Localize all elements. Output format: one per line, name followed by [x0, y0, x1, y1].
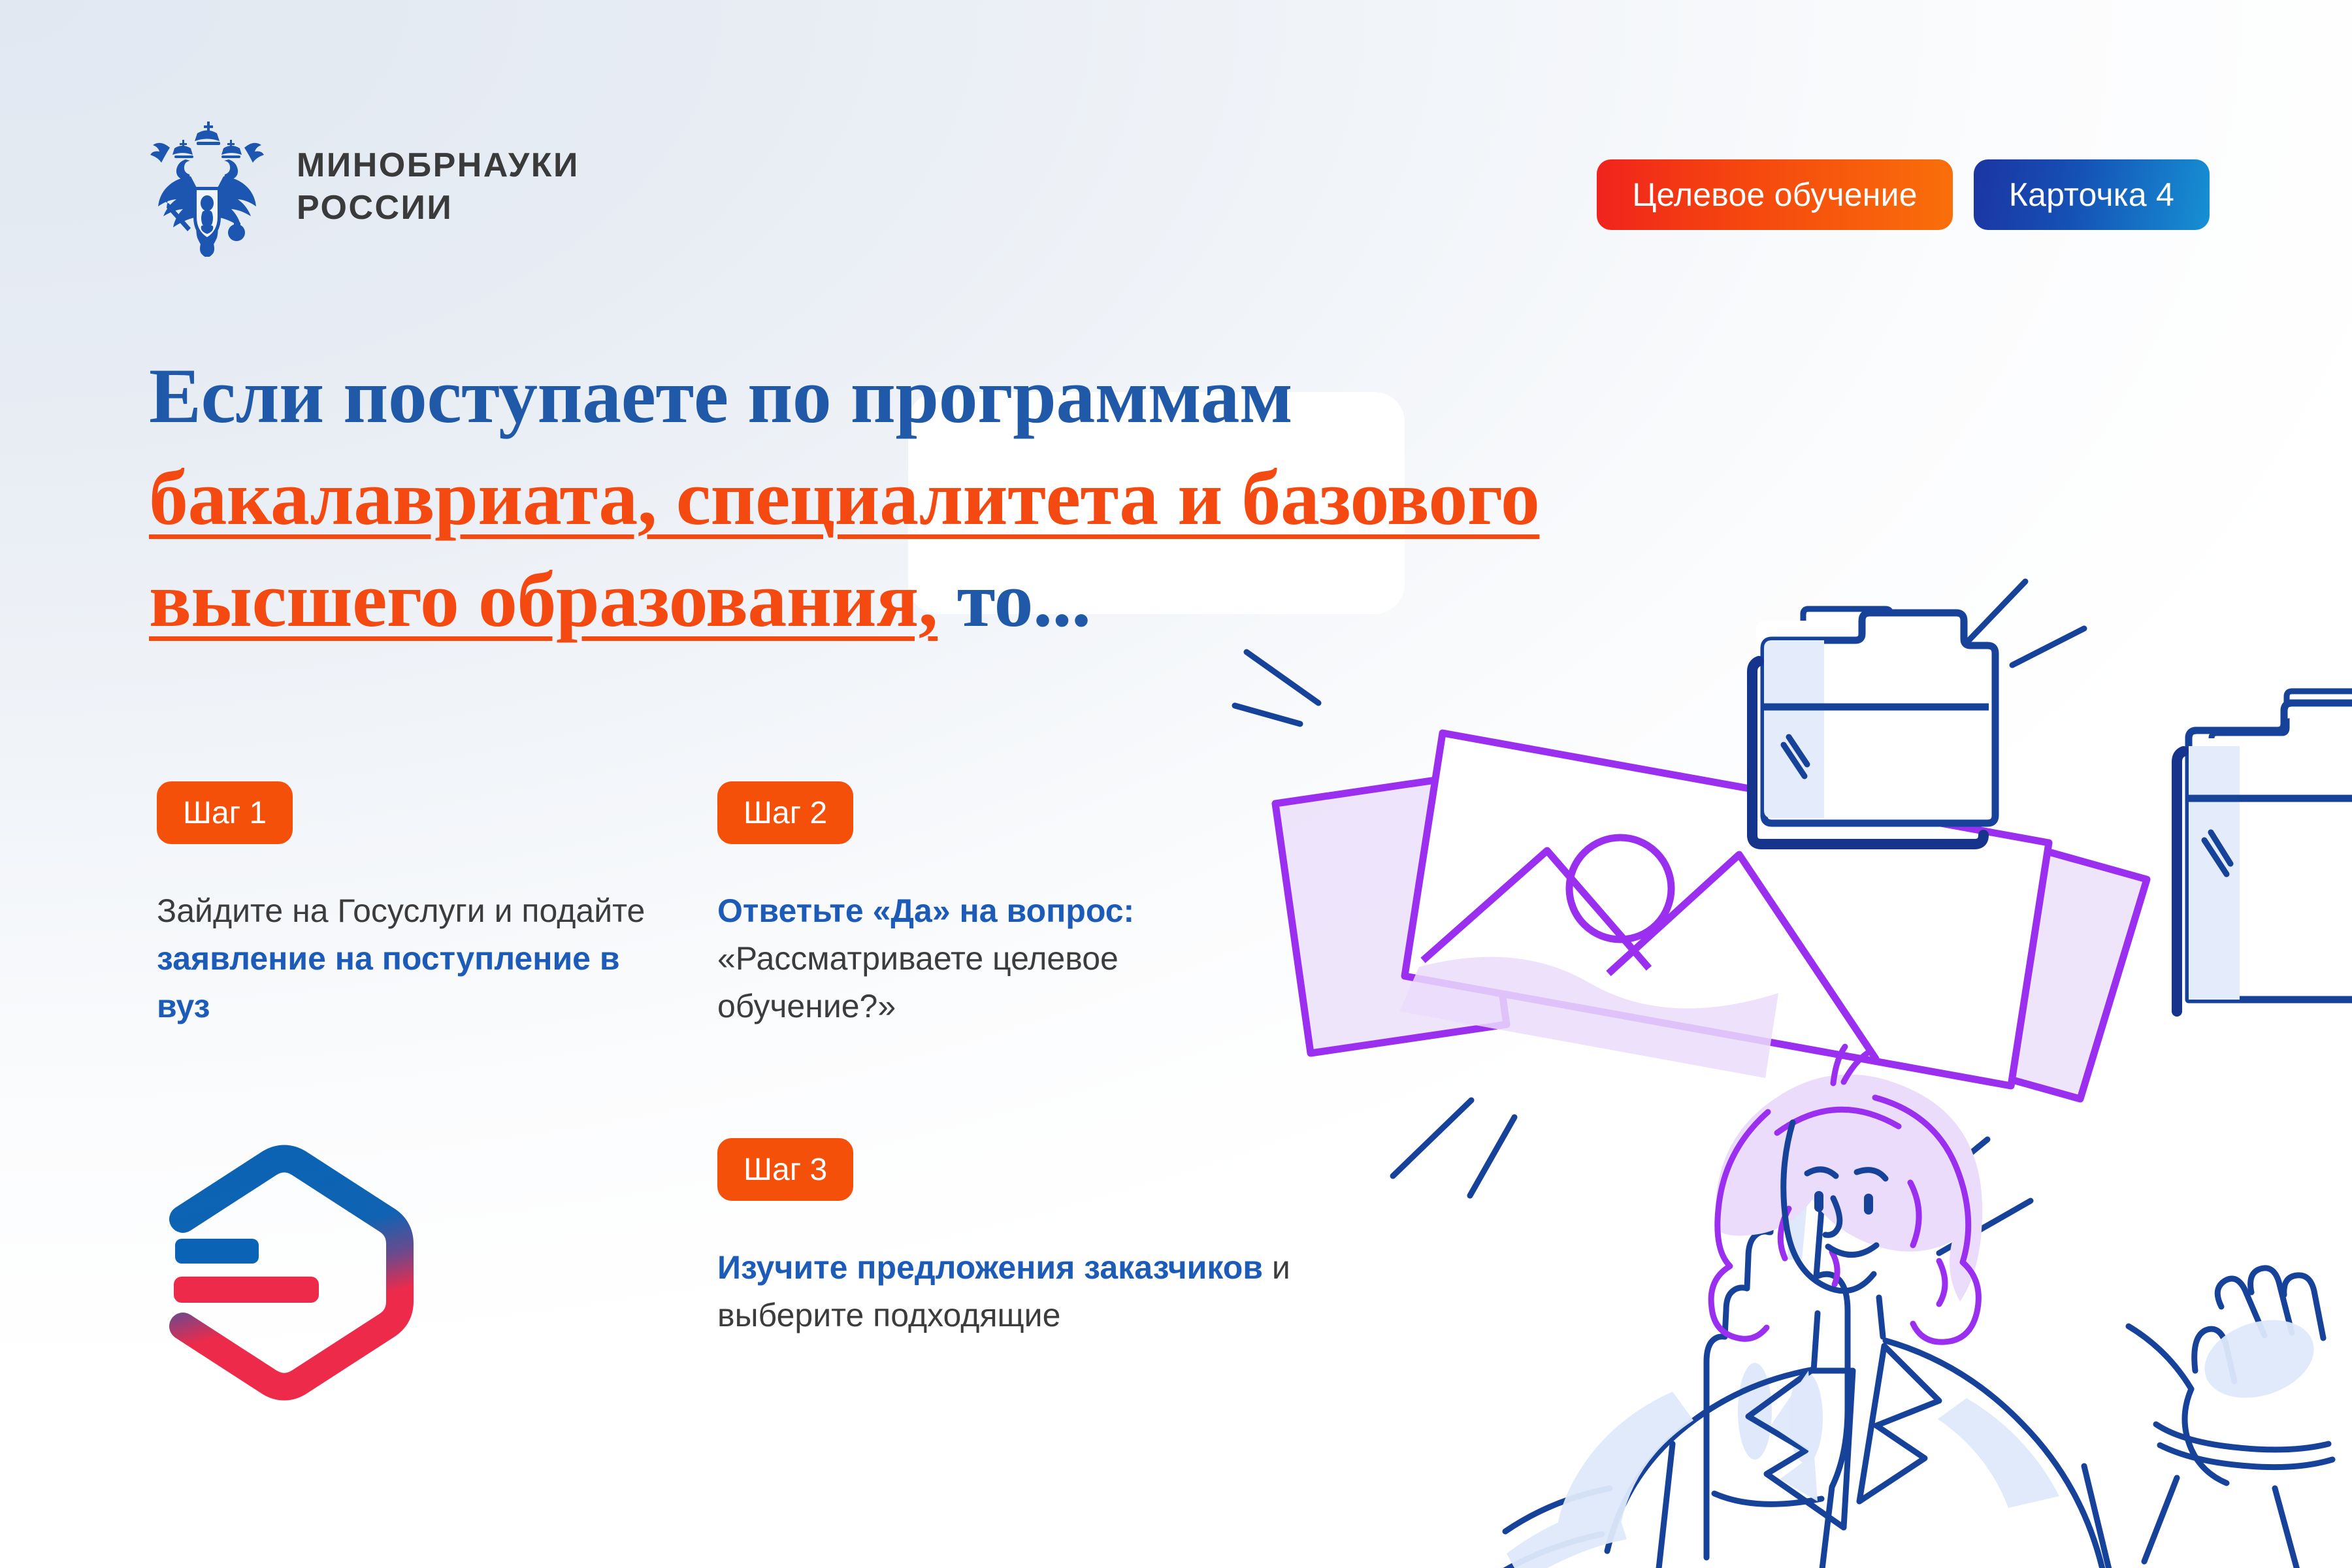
- step-badge-1: Шаг 1: [157, 781, 293, 844]
- infographic-card: МИНОБРНАУКИ РОССИИ Целевое обучение Карт…: [0, 0, 2352, 1568]
- step-column-2: Шаг 2 Ответьте «Да» на вопрос: «Рассматр…: [717, 781, 1292, 1030]
- step-text-3: Изучите предложения заказчиков и выберит…: [717, 1244, 1292, 1339]
- ministry-name-line-2: РОССИИ: [297, 189, 580, 227]
- header-badges: Целевое обучение Карточка 4: [1597, 159, 2210, 230]
- russian-double-headed-eagle-emblem-icon: [145, 116, 269, 257]
- step-2-bold-1: Ответьте «Да» на вопрос:: [717, 892, 1134, 929]
- ministry-name: МИНОБРНАУКИ РОССИИ: [297, 146, 580, 226]
- step-column-1: Шаг 1 Зайдите на Госуслуги и подайте зая…: [157, 781, 653, 1030]
- step-text-2: Ответьте «Да» на вопрос: «Рассматриваете…: [717, 887, 1292, 1030]
- badge-topic[interactable]: Целевое обучение: [1597, 159, 1952, 230]
- step-badge-3: Шаг 3: [717, 1138, 853, 1201]
- step-column-3: Шаг 3 Изучите предложения заказчиков и в…: [717, 1138, 1292, 1339]
- gosuslugi-logo-icon: [149, 1142, 423, 1403]
- step-1-plain-1: Зайдите на Госуслуги и подайте: [157, 892, 645, 929]
- badge-card-number[interactable]: Карточка 4: [1974, 159, 2210, 230]
- headline-part-1: Если поступаете по программам: [149, 352, 1292, 439]
- step-3-bold-1: Изучите предложения заказчиков: [717, 1249, 1263, 1286]
- illustration-woman-pointing-at-photos: [1215, 542, 2352, 1568]
- step-text-1: Зайдите на Госуслуги и подайте заявление…: [157, 887, 653, 1030]
- step-2-plain-2: «Рассматриваете целевое обучение?»: [717, 940, 1119, 1024]
- step-badge-2: Шаг 2: [717, 781, 853, 844]
- ministry-logo-block: МИНОБРНАУКИ РОССИИ: [145, 116, 580, 257]
- headline-part-3: то...: [938, 556, 1090, 643]
- step-1-bold-1: заявление на поступление в вуз: [157, 940, 620, 1024]
- header: МИНОБРНАУКИ РОССИИ Целевое обучение Карт…: [0, 0, 2352, 274]
- ministry-name-line-1: МИНОБРНАУКИ: [297, 146, 580, 184]
